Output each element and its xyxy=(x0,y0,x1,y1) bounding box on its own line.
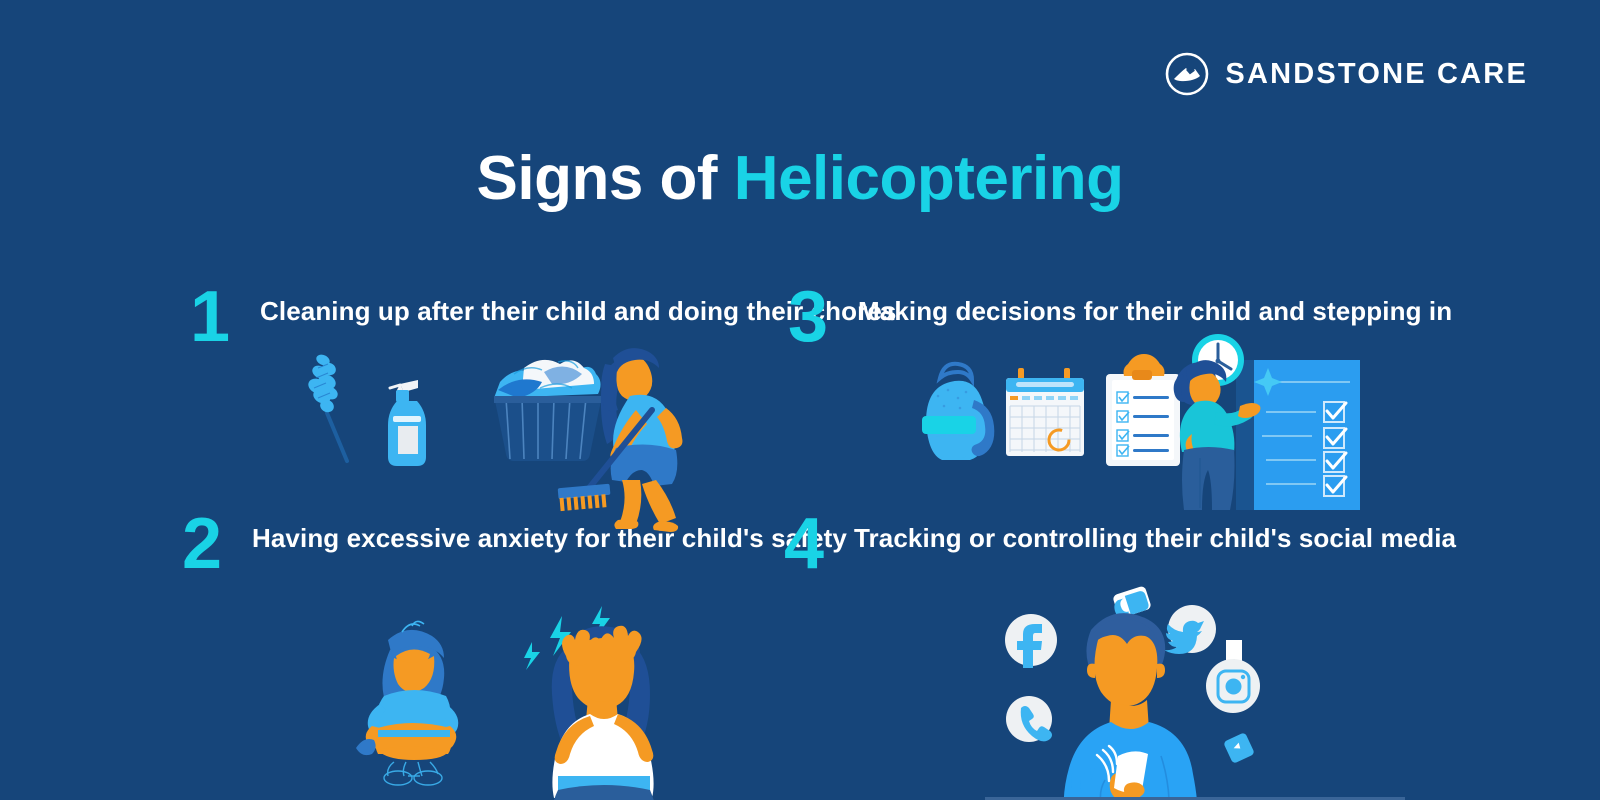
item-text: Having excessive anxiety for their child… xyxy=(252,513,847,559)
clipboard-icon xyxy=(1106,354,1180,466)
decisions-illustration-group xyxy=(900,330,1360,510)
message-tag-icon xyxy=(1223,732,1255,764)
item-number: 1 xyxy=(190,286,260,349)
item-number: 4 xyxy=(784,513,854,576)
title-part-two: Helicoptering xyxy=(734,144,1124,213)
page-title: Signs of Helicoptering xyxy=(0,146,1600,211)
title-part-one: Signs of xyxy=(477,144,734,213)
sandstone-mountain-icon xyxy=(1165,52,1209,96)
brand-logo: SANDSTONE CARE xyxy=(1165,52,1528,96)
anxiety-illustration-group xyxy=(350,598,680,800)
instagram-icon xyxy=(1206,659,1260,713)
social-media-illustration-group xyxy=(985,588,1285,800)
twitter-icon xyxy=(1164,605,1216,654)
infographic-canvas: SANDSTONE CARE Signs of Helicoptering 1 … xyxy=(0,0,1600,800)
calendar-icon xyxy=(1006,368,1084,456)
anxious-woman-illustration xyxy=(552,626,656,800)
spray-bottle-icon xyxy=(388,380,426,466)
sitting-child-illustration xyxy=(356,621,458,785)
checklist-board-illustration xyxy=(1236,360,1360,510)
phone-icon xyxy=(1006,696,1052,742)
facebook-icon xyxy=(1005,614,1057,668)
duster-icon xyxy=(306,353,347,461)
item-text: Making decisions for their child and ste… xyxy=(858,286,1452,332)
item-text: Tracking or controlling their child's so… xyxy=(854,513,1456,559)
list-item: 4 Tracking or controlling their child's … xyxy=(784,513,1456,576)
item-number: 2 xyxy=(182,513,252,576)
laundry-basket-icon xyxy=(494,360,602,461)
list-item: 2 Having excessive anxiety for their chi… xyxy=(182,513,847,576)
item-number: 3 xyxy=(788,286,858,349)
cleaning-illustration-group xyxy=(300,338,720,513)
brand-name: SANDSTONE CARE xyxy=(1225,58,1528,91)
backpack-icon xyxy=(922,364,994,460)
